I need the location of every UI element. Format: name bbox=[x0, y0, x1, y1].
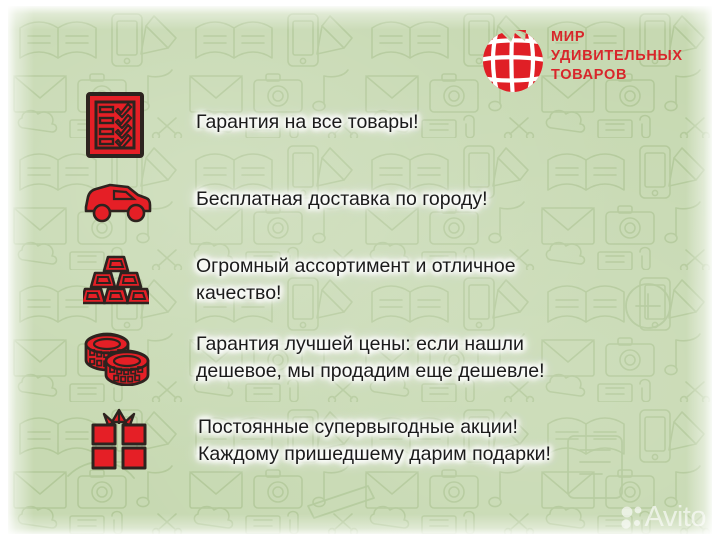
feature-item-assortment: Огромный ассортимент и отличное качество… bbox=[83, 253, 516, 309]
avito-watermark: Avito bbox=[621, 503, 706, 532]
gold-bars-icon bbox=[83, 253, 149, 309]
coin-stacks-icon bbox=[82, 330, 152, 386]
feature-text: Огромный ассортимент и отличное качество… bbox=[196, 253, 516, 307]
feature-item-delivery: Бесплатная доставка по городу! bbox=[80, 177, 488, 225]
feature-text: Гарантия на все товары! bbox=[196, 109, 419, 136]
feature-list: Гарантия на все товары! Бесплатная доста… bbox=[0, 0, 720, 540]
avito-label: Avito bbox=[645, 503, 706, 532]
car-icon bbox=[80, 177, 152, 225]
feature-text: Бесплатная доставка по городу! bbox=[196, 186, 488, 213]
feature-text: Гарантия лучшей цены: если нашли дешевое… bbox=[196, 331, 545, 385]
checklist-icon bbox=[86, 92, 144, 158]
avito-dots-icon bbox=[621, 505, 643, 531]
feature-text: Постоянные супервыгодные акции! Каждому … bbox=[198, 414, 551, 468]
feature-item-warranty: Гарантия на все товары! bbox=[86, 92, 419, 158]
feature-item-best-price: Гарантия лучшей цены: если нашли дешевое… bbox=[82, 330, 545, 386]
feature-item-promotions: Постоянные супервыгодные акции! Каждому … bbox=[90, 408, 551, 470]
promo-banner: МИР УДИВИТЕЛЬНЫХ ТОВАРОВ bbox=[0, 0, 720, 540]
gift-box-icon bbox=[90, 408, 148, 470]
